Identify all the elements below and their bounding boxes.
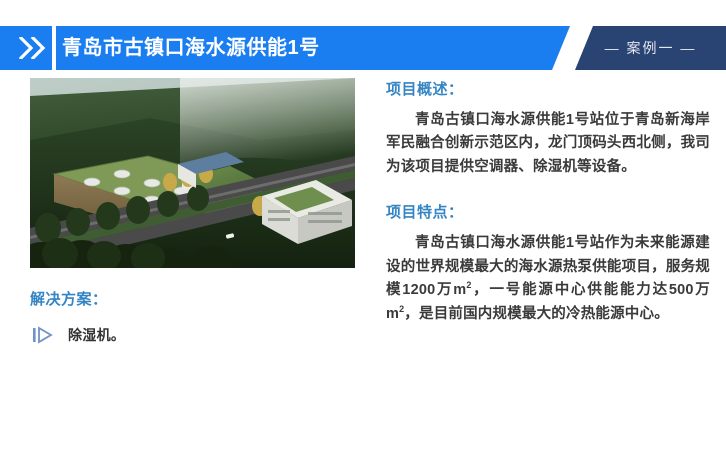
project-features-body: 青岛古镇口海水源供能1号站作为未来能源建设的世界规模最大的海水源热泵供能项目，服…: [386, 232, 710, 326]
page-title: 青岛市古镇口海水源供能1号: [62, 26, 320, 70]
project-features-heading: 项目特点：: [386, 201, 710, 222]
project-description-column: 项目概述： 青岛古镇口海水源供能1号站位于青岛新海岸军民融合创新示范区内，龙门顶…: [386, 78, 710, 326]
project-features-section: 项目特点： 青岛古镇口海水源供能1号站作为未来能源建设的世界规模最大的海水源热泵…: [386, 201, 710, 326]
list-item: 除湿机。: [30, 325, 360, 345]
features-text-part3: ，是目前国内规模最大的冷热能源中心。: [404, 306, 669, 322]
project-overview-heading: 项目概述：: [386, 78, 710, 99]
project-aerial-photo: [30, 78, 355, 268]
solution-item-label: 除湿机。: [68, 325, 125, 345]
solution-block: 解决方案： 除湿机。: [30, 288, 360, 345]
project-overview-section: 项目概述： 青岛古镇口海水源供能1号站位于青岛新海岸军民融合创新示范区内，龙门顶…: [386, 78, 710, 179]
double-chevron-right-icon: [19, 37, 33, 59]
features-unit2: m: [386, 306, 399, 322]
features-unit1: m: [453, 282, 466, 298]
play-triangle-bullet-icon: [32, 325, 54, 345]
page-header: 青岛市古镇口海水源供能1号 — 案例一 —: [0, 26, 726, 70]
solution-heading: 解决方案：: [30, 288, 360, 309]
features-text-part2: ，一号能源中心供能能力达500万: [472, 282, 710, 298]
project-overview-body: 青岛古镇口海水源供能1号站位于青岛新海岸军民融合创新示范区内，龙门顶码头西北侧，…: [386, 109, 710, 179]
case-number-badge: — 案例一 —: [575, 26, 726, 70]
header-chevron-block: [0, 26, 52, 70]
